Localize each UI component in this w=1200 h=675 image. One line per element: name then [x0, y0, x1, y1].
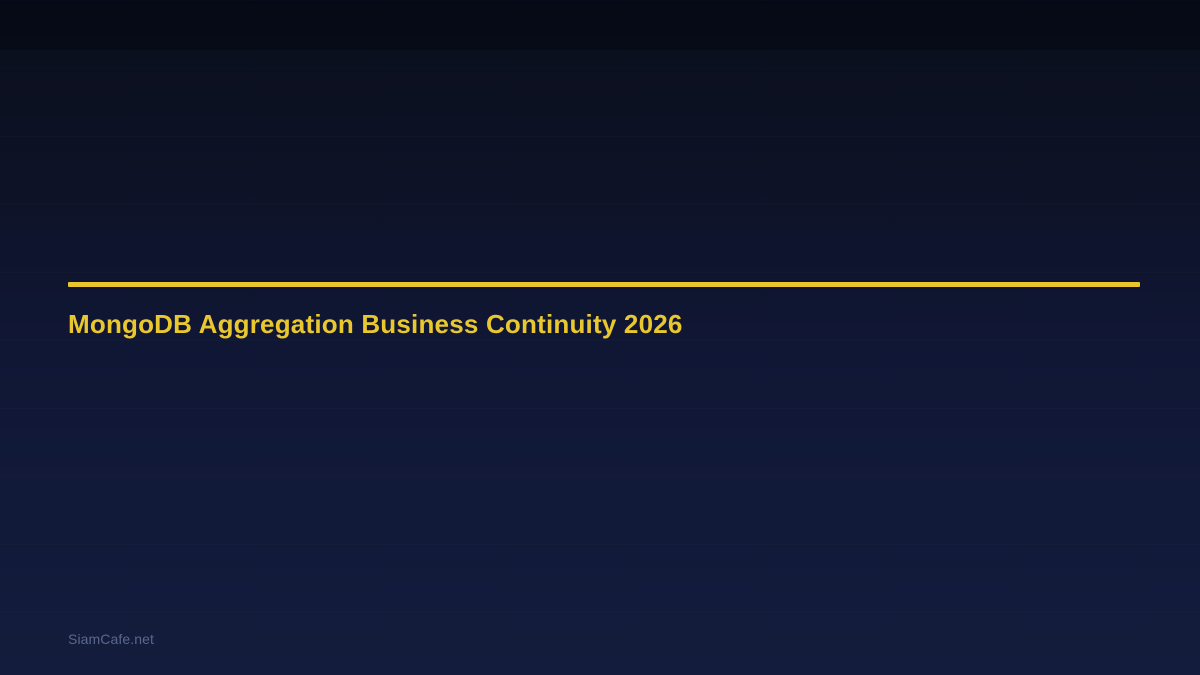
title-block: MongoDB Aggregation Business Continuity … — [68, 282, 1140, 340]
page-title: MongoDB Aggregation Business Continuity … — [68, 287, 1140, 340]
top-accent-band — [0, 0, 1200, 50]
footer-brand: SiamCafe.net — [68, 630, 154, 649]
title-slide: MongoDB Aggregation Business Continuity … — [0, 0, 1200, 675]
